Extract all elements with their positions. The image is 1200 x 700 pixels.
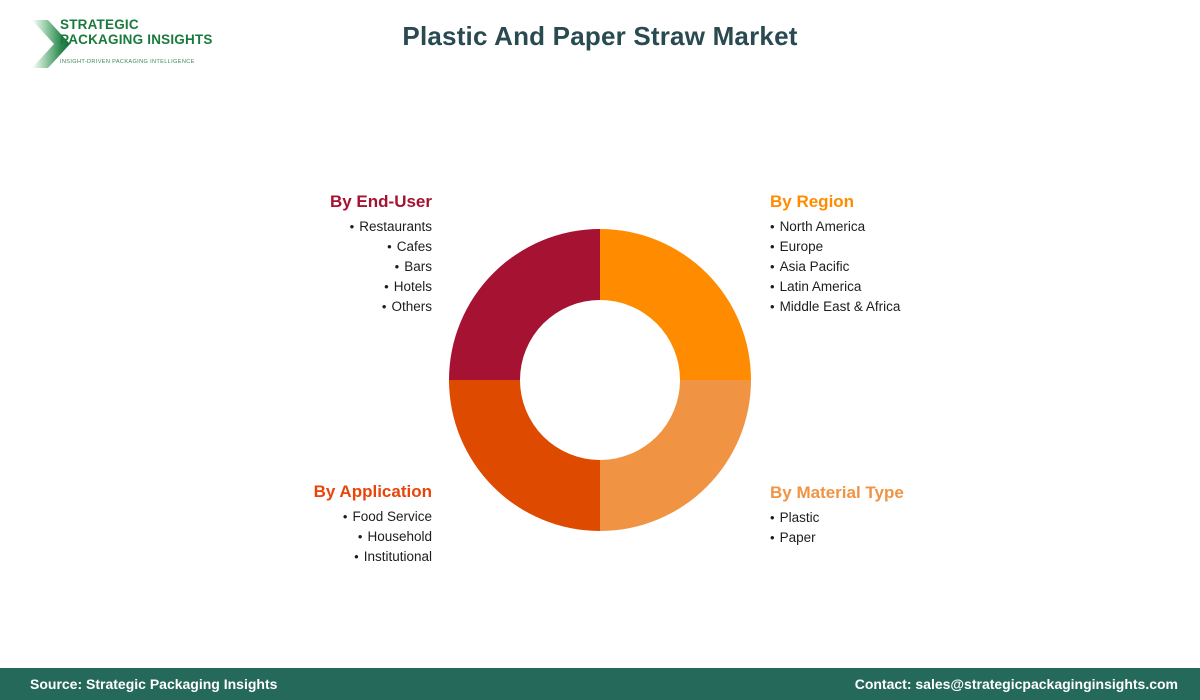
category-application-list: Food Service Household Institutional — [180, 507, 432, 567]
list-item: Middle East & Africa — [770, 297, 1070, 317]
category-region-list: North America Europe Asia Pacific Latin … — [770, 217, 1070, 317]
list-item: Institutional — [180, 547, 432, 567]
category-material-type-title: By Material Type — [770, 483, 1070, 503]
donut-segment-region — [600, 229, 751, 380]
page-title: Plastic And Paper Straw Market — [0, 21, 1200, 52]
list-item: Food Service — [180, 507, 432, 527]
category-application: By Application Food Service Household In… — [180, 482, 432, 567]
logo-tagline: INSIGHT-DRIVEN PACKAGING INTELLIGENCE — [60, 59, 230, 65]
list-item: Restaurants — [200, 217, 432, 237]
list-item: Hotels — [200, 277, 432, 297]
category-end-user: By End-User Restaurants Cafes Bars Hotel… — [200, 192, 432, 317]
donut-segment-material-type — [600, 380, 751, 531]
category-end-user-list: Restaurants Cafes Bars Hotels Others — [200, 217, 432, 317]
category-region: By Region North America Europe Asia Paci… — [770, 192, 1070, 317]
category-material-type-list: Plastic Paper — [770, 508, 1070, 548]
footer-source-text: Source: Strategic Packaging Insights — [30, 668, 277, 700]
footer-bar: Source: Strategic Packaging Insights Con… — [0, 668, 1200, 700]
category-region-title: By Region — [770, 192, 1070, 212]
footer-contact-text: Contact: sales@strategicpackaginginsight… — [855, 668, 1178, 700]
donut-segment-application — [449, 380, 600, 531]
list-item: Others — [200, 297, 432, 317]
list-item: Europe — [770, 237, 1070, 257]
list-item: North America — [770, 217, 1070, 237]
category-end-user-title: By End-User — [200, 192, 432, 212]
list-item: Household — [180, 527, 432, 547]
category-application-title: By Application — [180, 482, 432, 502]
list-item: Plastic — [770, 508, 1070, 528]
donut-chart — [449, 229, 751, 531]
donut-segment-end-user — [449, 229, 600, 380]
list-item: Latin America — [770, 277, 1070, 297]
list-item: Bars — [200, 257, 432, 277]
category-material-type: By Material Type Plastic Paper — [770, 483, 1070, 548]
list-item: Paper — [770, 528, 1070, 548]
list-item: Cafes — [200, 237, 432, 257]
list-item: Asia Pacific — [770, 257, 1070, 277]
